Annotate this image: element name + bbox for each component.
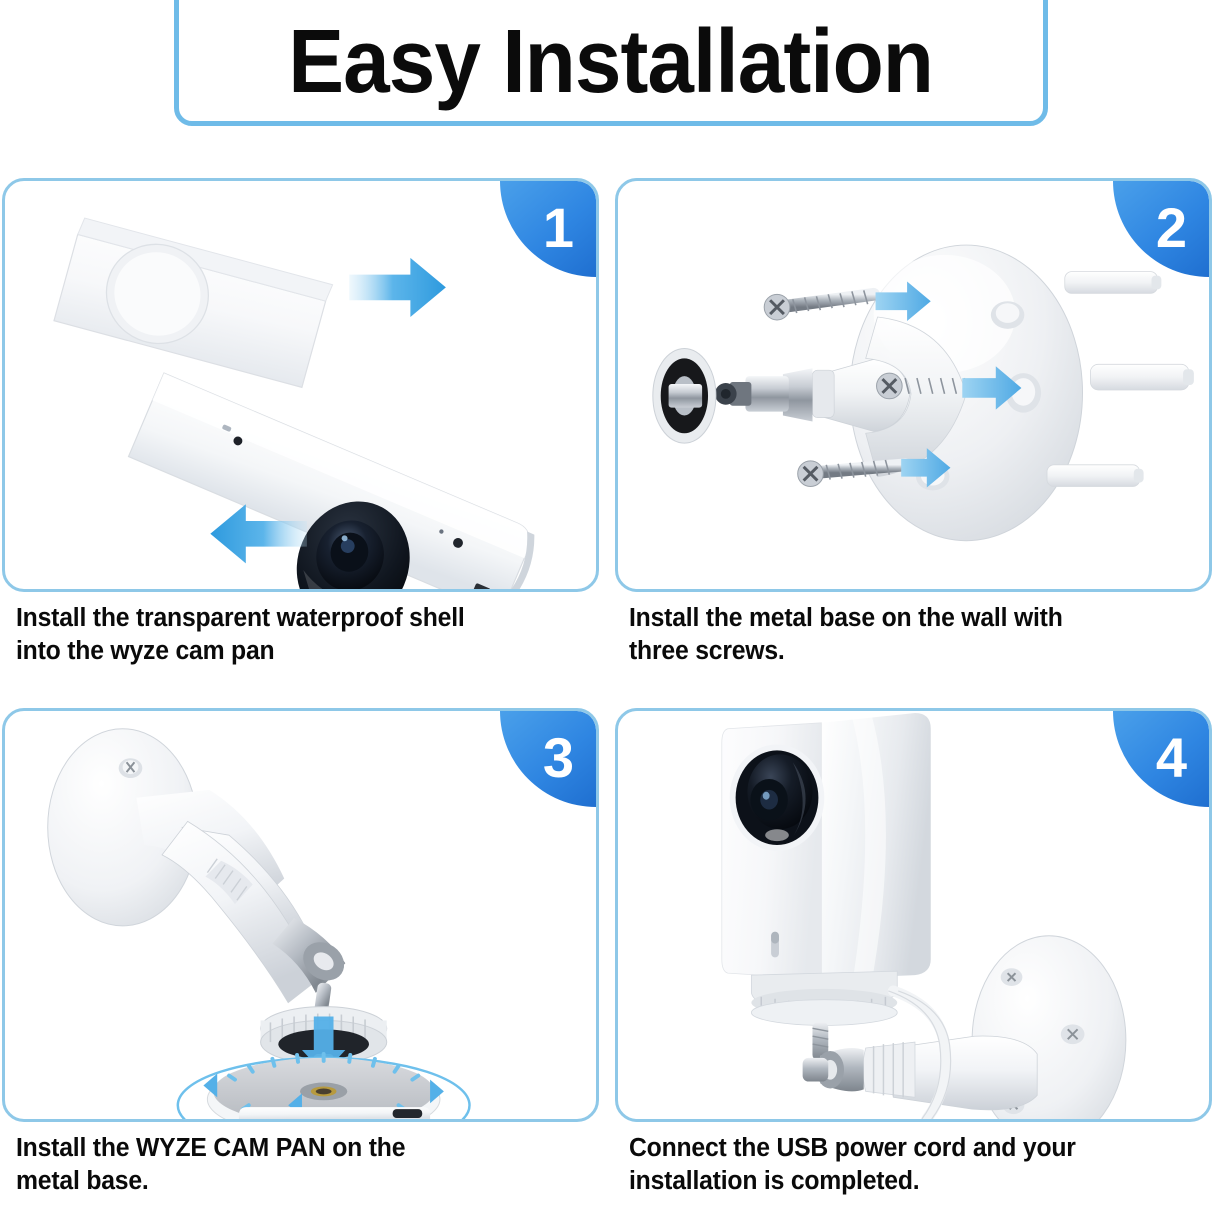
step-4-caption-line-1: Connect the USB power cord and your: [629, 1132, 1182, 1165]
camera-body: [722, 713, 931, 979]
page-title-box: Easy Installation: [174, 0, 1048, 126]
step-4: 4 Connect the USB power cord and your in…: [615, 708, 1212, 1208]
steps-grid: 1 Install the transparent waterproof she…: [0, 178, 1214, 1208]
completed-camera-on-wall-mount-with-usb-cord-illustration: [618, 711, 1209, 1119]
step-2-caption-line-2: three screws.: [629, 635, 1182, 668]
wall-mount-base-with-three-screws-and-anchors-illustration: [618, 181, 1209, 589]
page-title: Easy Installation: [289, 17, 934, 107]
step-4-image-frame: 4: [615, 708, 1212, 1122]
step-3-caption-line-1: Install the WYZE CAM PAN on the: [16, 1132, 569, 1165]
blue-arrow-right: [349, 258, 446, 317]
step-3-image-frame: 3: [2, 708, 599, 1122]
step-4-caption-line-2: installation is completed.: [629, 1165, 1182, 1198]
step-2: 2 Install the metal base on the wall wit…: [615, 178, 1212, 678]
step-2-caption: Install the metal base on the wall with …: [629, 602, 1182, 667]
step-3-caption-line-2: metal base.: [16, 1165, 569, 1198]
step-1: 1 Install the transparent waterproof she…: [2, 178, 599, 678]
step-2-image-frame: 2: [615, 178, 1212, 592]
step-3-caption: Install the WYZE CAM PAN on the metal ba…: [16, 1132, 569, 1197]
step-4-caption: Connect the USB power cord and your inst…: [629, 1132, 1182, 1197]
mount-arm-screwing-into-camera-base-illustration: [5, 711, 596, 1119]
knurled-nut: [653, 349, 716, 444]
step-1-caption: Install the transparent waterproof shell…: [16, 602, 569, 667]
camera-sliding-into-waterproof-shell-illustration: [5, 181, 596, 589]
step-1-image-frame: 1: [2, 178, 599, 592]
step-3: 3 Install the WYZE CAM PAN on the metal …: [2, 708, 599, 1208]
step-2-caption-line-1: Install the metal base on the wall with: [629, 602, 1182, 635]
step-1-caption-line-2: into the wyze cam pan: [16, 635, 569, 668]
step-1-caption-line-1: Install the transparent waterproof shell: [16, 602, 569, 635]
